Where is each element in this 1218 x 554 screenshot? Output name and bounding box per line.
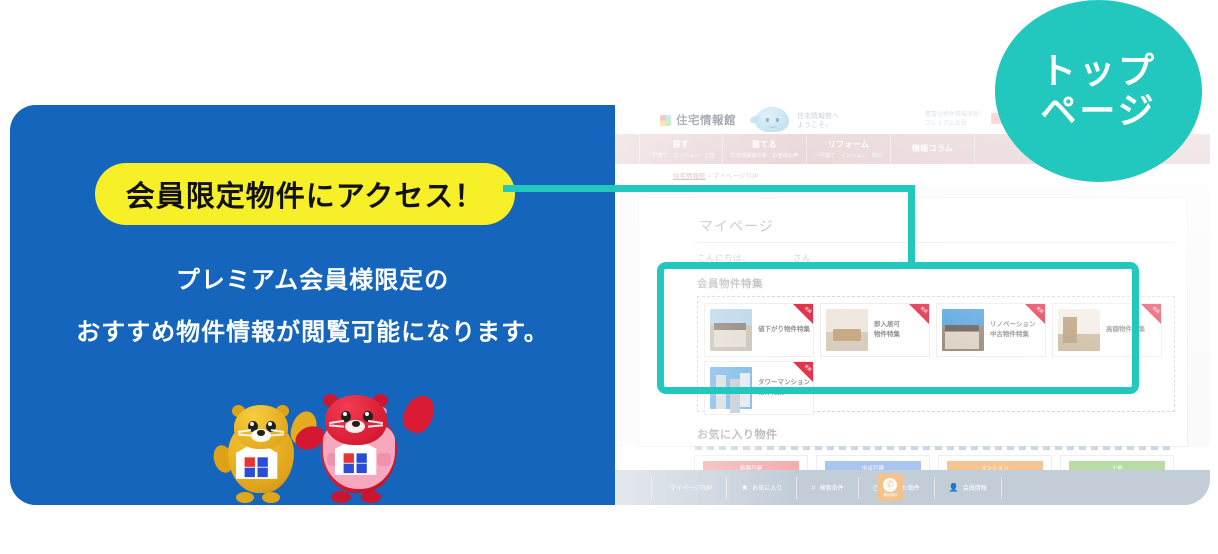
nav-item-column-title: 情報コラム — [912, 143, 953, 154]
access-pill-label: 会員限定物件にアクセス！ — [126, 173, 485, 215]
mascot-pair — [210, 387, 430, 502]
bottom-nav-label: マイページTOP — [670, 483, 712, 492]
section-title-favorites: お気に入り物件 — [697, 426, 778, 442]
promo-blurb-line1: プレミアム会員様限定の — [10, 260, 615, 295]
nav-item-reform-sub: 一戸建て マンション 部分 — [815, 152, 883, 159]
nav-item-reform-title: リフォーム — [828, 139, 869, 150]
callout-connector-horizontal — [503, 185, 915, 192]
free-call-label: 通話無料 — [883, 493, 897, 498]
nav-item-build-title: 建てる — [752, 139, 777, 150]
promo-blurb-line2: おすすめ物件情報が閲覧可能になります。 — [10, 312, 615, 347]
page-title: マイページ — [699, 216, 774, 236]
bottom-nav-label: お気に入り — [752, 483, 782, 492]
bottom-nav-items: マイページTOP ★ お気に入り ⌕ 検索条件 ◷ 最近見た物件 — [651, 470, 1002, 505]
breadcrumb-root[interactable]: 住宅情報館 — [673, 173, 706, 180]
star-icon: ★ — [741, 484, 748, 492]
premium-note: 豊富な物件情報満載！ プレミアム会員 — [925, 111, 985, 128]
nav-item-search-title: 探す — [673, 139, 690, 150]
yellow-mascot-icon — [218, 401, 310, 501]
nav-item-reform[interactable]: リフォーム 一戸建て マンション 部分 — [807, 134, 891, 164]
bottom-nav-member-info[interactable]: 👤 会員情報 — [935, 477, 1002, 499]
premium-note-line2: プレミアム会員 — [925, 120, 985, 129]
site-logo-text: 住宅情報館 — [676, 112, 736, 128]
nav-item-search[interactable]: 探す 一戸建て マンション 土地 — [639, 134, 723, 164]
global-nav-items: 探す 一戸建て マンション 土地 建てる 住宅情報館の家 お客様の声 リフォーム… — [639, 134, 975, 164]
bottom-nav-favorites[interactable]: ★ お気に入り — [727, 477, 797, 499]
screenshot-canvas: 会員限定物件にアクセス！ プレミアム会員様限定の おすすめ物件情報が閲覧可能にな… — [0, 0, 1218, 554]
highlight-box-member-properties — [657, 262, 1139, 394]
nav-item-build[interactable]: 建てる 住宅情報館の家 お客様の声 — [723, 134, 807, 164]
person-icon: 👤 — [949, 484, 959, 492]
nav-item-build-sub: 住宅情報館の家 お客様の声 — [731, 152, 799, 159]
search-icon: ⌕ — [811, 484, 815, 492]
left-blue-panel: 会員限定物件にアクセス！ プレミアム会員様限定の おすすめ物件情報が閲覧可能にな… — [10, 105, 615, 505]
premium-note-line1: 豊富な物件情報満載！ — [925, 111, 985, 120]
top-page-badge-line2: ページ — [1040, 93, 1156, 129]
favorites-divider — [695, 446, 1175, 450]
breadcrumb-separator: > — [706, 173, 713, 180]
access-pill: 会員限定物件にアクセス！ — [95, 163, 515, 225]
breadcrumb-current: マイページTOP — [713, 173, 759, 180]
bottom-nav-mypage-top[interactable]: マイページTOP — [651, 477, 727, 499]
nav-item-search-sub: 一戸建て マンション 土地 — [647, 152, 715, 159]
free-call-button[interactable]: ✆ 通話無料 — [877, 474, 903, 501]
welcome-text: 住宅情報館へ ようこそ♪ — [797, 112, 839, 131]
red-mascot-icon — [305, 389, 423, 501]
promo-blurb: プレミアム会員様限定の おすすめ物件情報が閲覧可能になります。 — [10, 260, 615, 347]
nav-item-column[interactable]: 情報コラム — [891, 134, 975, 164]
bottom-utility-nav: マイページTOP ★ お気に入り ⌕ 検索条件 ◷ 最近見た物件 — [615, 470, 1210, 505]
site-logo[interactable]: 住宅情報館 — [660, 112, 736, 128]
callout-connector-vertical — [908, 185, 915, 267]
logo-mark-icon — [660, 115, 671, 126]
title-divider — [695, 242, 1175, 243]
bottom-nav-label: 検索条件 — [820, 483, 844, 492]
bottom-nav-search-conditions[interactable]: ⌕ 検索条件 — [797, 477, 859, 499]
phone-icon: ✆ — [883, 478, 897, 492]
top-page-badge: トップ ページ — [995, 0, 1202, 182]
bottom-nav-label: 会員情報 — [963, 483, 987, 492]
site-mascot-icon — [755, 107, 789, 132]
top-page-badge-line1: トップ — [1040, 53, 1157, 89]
